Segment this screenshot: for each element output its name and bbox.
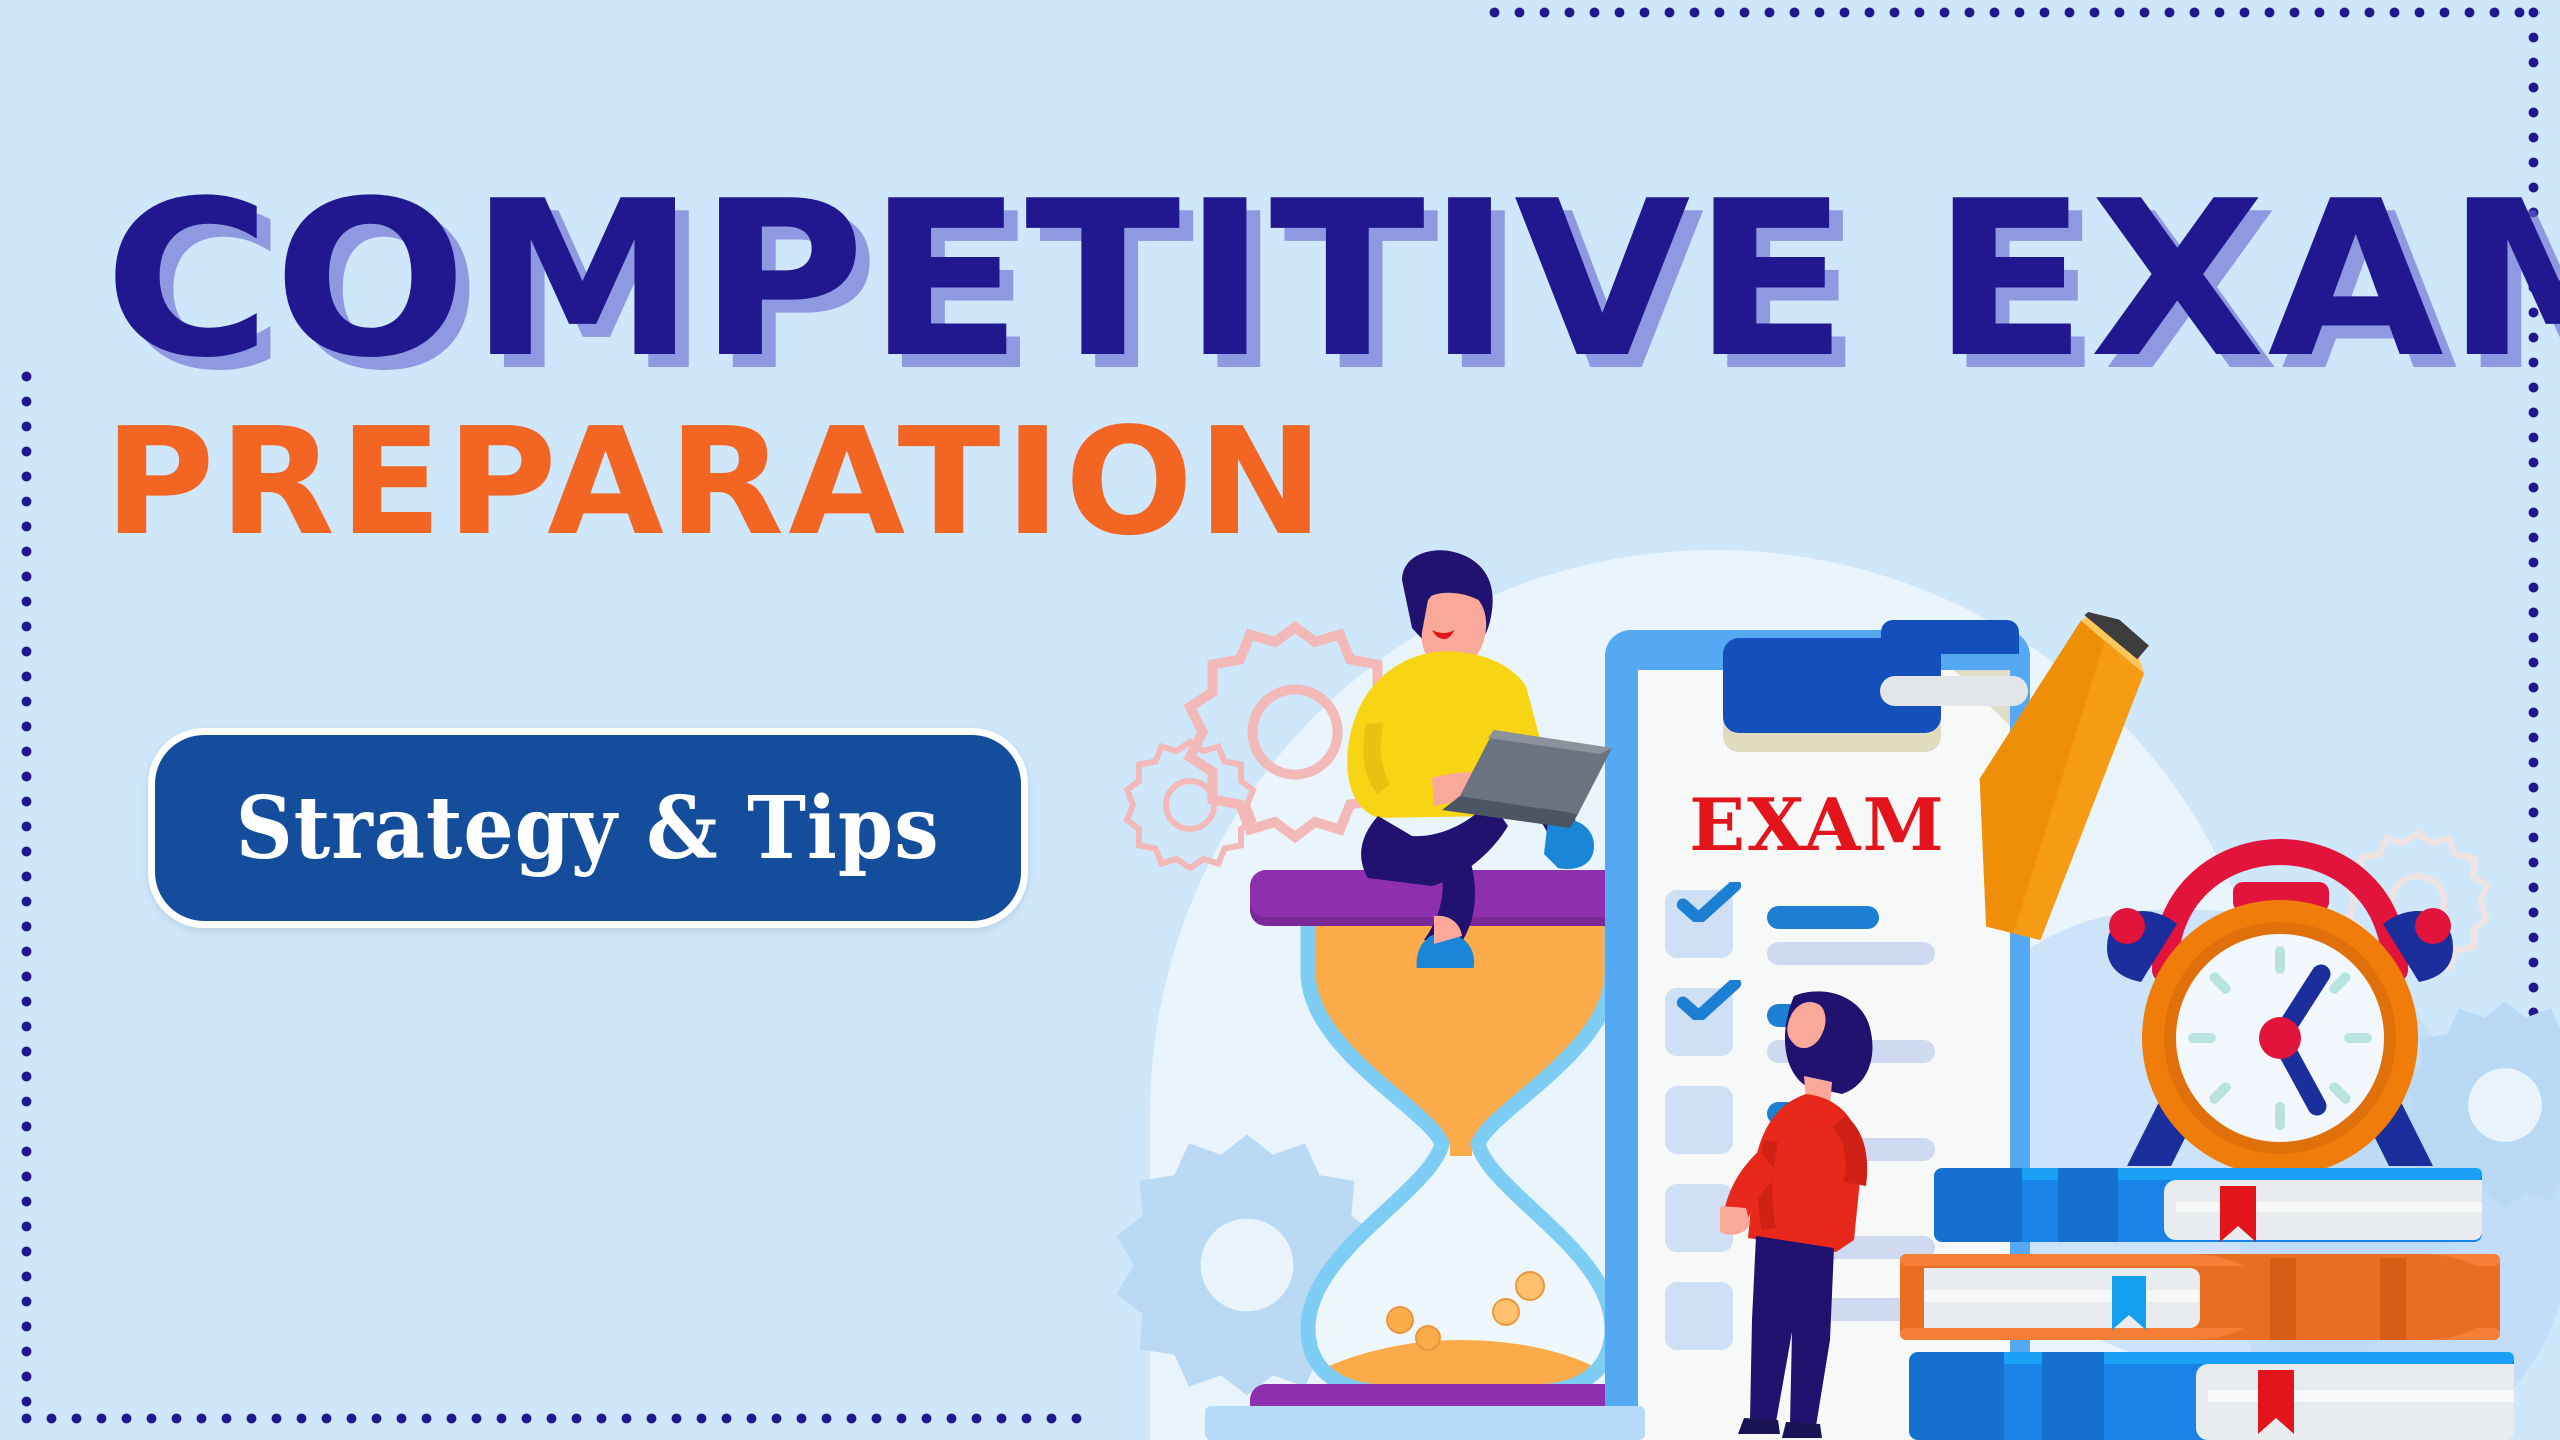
person-presenting xyxy=(1720,990,1950,1440)
strategy-tips-button[interactable]: Strategy & Tips xyxy=(148,728,1028,928)
checkmark-1 xyxy=(1673,882,1745,922)
exam-preparation-illustration: EXAM xyxy=(1060,430,2560,1440)
checklist-line-1b xyxy=(1767,942,1935,965)
checklist-line-1a xyxy=(1767,906,1879,929)
alarm-clock xyxy=(2085,830,2475,1190)
dotted-line-bottom xyxy=(20,1412,1085,1425)
page-title: COMPETITIVE EXAM xyxy=(104,175,2118,386)
hourglass-glass xyxy=(1278,900,1642,1400)
dotted-line-left xyxy=(20,370,33,1422)
gear-outline-left-small xyxy=(1115,730,1265,880)
strategy-tips-button-label: Strategy & Tips xyxy=(236,778,940,879)
clipboard-clip xyxy=(1723,638,1941,733)
book-stack xyxy=(1890,1158,2560,1440)
book-bottom xyxy=(1909,1352,2514,1440)
dotted-line-top xyxy=(1488,6,2540,19)
banner-root: COMPETITIVE EXAM PREPARATION Strategy & … xyxy=(0,0,2560,1440)
illustration-base-bar xyxy=(1205,1406,1645,1440)
book-middle xyxy=(1900,1254,2500,1340)
person-with-laptop xyxy=(1282,548,1662,968)
book-top xyxy=(1934,1168,2482,1242)
